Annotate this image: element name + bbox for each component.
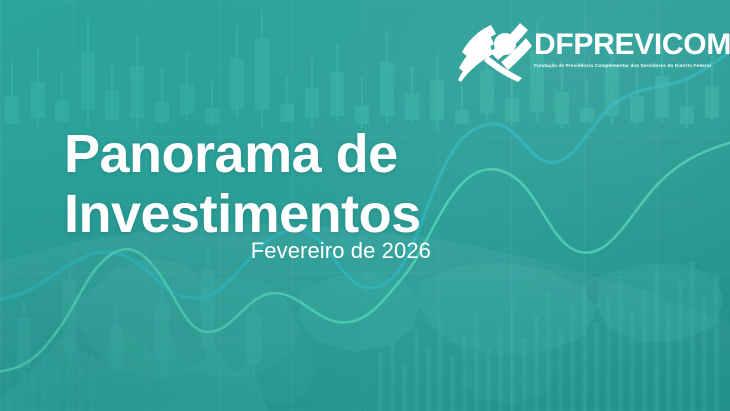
- slide-title: Panorama de Investimentos: [64, 124, 444, 245]
- slide-title-line-2: Investimentos: [64, 184, 444, 244]
- mountain-shape: [0, 330, 268, 411]
- bar-field-bottom-left: [6, 336, 95, 411]
- slide-date: Fevereiro de 2026: [64, 238, 431, 264]
- dfprevicom-wordmark: DFPREVICOM Fundação de Previdência Compl…: [534, 30, 714, 69]
- dfprevicom-logo: DFPREVICOM Fundação de Previdência Compl…: [458, 22, 714, 84]
- presentation-slide: DFPREVICOM Fundação de Previdência Compl…: [0, 0, 730, 411]
- slide-title-line-1: Panorama de: [64, 124, 444, 184]
- dfprevicom-mark-icon: [458, 22, 532, 82]
- logo-name: DFPREVICOM: [534, 30, 714, 60]
- world-map-silhouette: [78, 258, 724, 406]
- logo-tagline: Fundação de Previdência Complementar dos…: [534, 64, 714, 69]
- candlestick-field-lower: [17, 250, 261, 382]
- bar-field-bottom-right: [378, 262, 719, 411]
